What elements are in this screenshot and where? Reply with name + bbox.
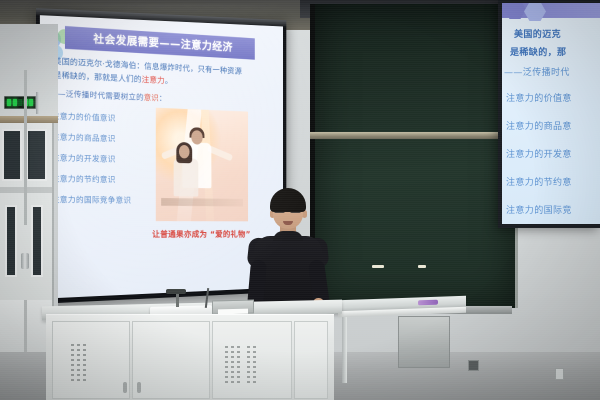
led-segment <box>18 99 22 106</box>
led-segment <box>29 99 33 106</box>
slide-paragraph-line2-prefix: 是稀缺的，那就是人们的 <box>53 70 141 84</box>
blackboard <box>310 4 518 308</box>
cabinet-door[interactable] <box>132 321 210 399</box>
photo-figure-body <box>174 158 199 196</box>
chalk-piece <box>418 265 426 268</box>
photo-watermark <box>161 198 243 206</box>
list-item: 注意力的开发意识 <box>52 148 167 171</box>
classroom-scene: 社会发展需要——注意力经济 美国的迈克尔·戈德海伯：信息爆炸时代，只有一种资源 … <box>0 0 600 400</box>
slide-paragraph-line2-suffix: 。 <box>165 76 173 86</box>
cabinet-door[interactable] <box>212 321 292 399</box>
chalk-ledge <box>310 132 507 139</box>
wall-socket[interactable] <box>555 368 564 380</box>
led-segment <box>13 99 17 106</box>
hair <box>270 188 306 212</box>
list-item: 注意力的节约意识 <box>52 168 167 191</box>
slide-subheading-prefix: ——泛传播时代需要树立的 <box>50 88 144 102</box>
led-display-sign <box>4 96 36 109</box>
door-glass-pane <box>31 205 43 277</box>
photo-figure-head <box>191 130 202 145</box>
wall-trim-board <box>0 116 58 123</box>
slide-subheading-suffix: ： <box>159 93 167 103</box>
secondary-slide-line: 注意力的开发意 <box>506 147 572 160</box>
secondary-slide-line: 注意力的节约意 <box>506 175 572 188</box>
led-segment <box>7 99 11 106</box>
sweater-collar <box>273 231 303 241</box>
cabinet-door[interactable] <box>294 321 328 399</box>
secondary-projection-screen: 美国的迈克 是稀缺的，那 ——泛传播时代 注意力的价值意 注意力的商品意 注意力… <box>498 0 600 228</box>
door-glass-pane <box>2 129 22 181</box>
purple-object-on-desk[interactable] <box>418 300 438 306</box>
secondary-slide-line: 是稀缺的，那 <box>510 45 566 58</box>
document-camera-arm <box>176 293 179 307</box>
podium-cabinet <box>46 314 334 400</box>
slide-paragraph-highlight: 注意力 <box>142 74 165 85</box>
secondary-slide-line: 注意力的国际竞 <box>506 203 572 216</box>
secondary-slide-line: 注意力的商品意 <box>506 119 572 132</box>
hexagon-icon <box>504 3 526 19</box>
photo-figure-head <box>179 145 190 159</box>
cabinet-handle[interactable] <box>123 382 127 393</box>
secondary-slide-line: 注意力的价值意 <box>506 91 572 104</box>
slide-bullet-list: 注意力的价值意识 注意力的商品意识 注意力的开发意识 注意力的节约意识 注意力的… <box>52 106 167 211</box>
side-desk-leg <box>342 313 347 383</box>
chalk-piece <box>372 265 384 268</box>
hexagon-icon <box>524 3 546 21</box>
door-glass-pane <box>5 205 17 277</box>
presenter <box>240 188 336 318</box>
slide-subheading-highlight: 意识 <box>144 92 159 102</box>
door-handle[interactable] <box>21 253 29 269</box>
door-center-seam <box>24 70 27 225</box>
cabinet-handle[interactable] <box>137 382 141 393</box>
wall-socket[interactable] <box>468 360 479 371</box>
slide-paragraph: 美国的迈克尔·戈德海伯：信息爆炸时代，只有一种资源 是稀缺的，那就是人们的注意力… <box>53 54 266 92</box>
secondary-slide-line: 美国的迈克 <box>514 27 561 40</box>
secondary-slide-line: ——泛传播时代 <box>504 65 570 78</box>
list-item: 注意力的国际竞争意识 <box>52 189 167 211</box>
slide-photo <box>156 108 248 222</box>
sign-mount <box>36 92 39 114</box>
secondary-slide: 美国的迈克 是稀缺的，那 ——泛传播时代 注意力的价值意 注意力的商品意 注意力… <box>502 3 600 224</box>
cabinet-door[interactable] <box>52 321 130 399</box>
slide-subheading: ——泛传播时代需要树立的意识： <box>50 87 232 107</box>
side-desk-panel <box>398 316 450 368</box>
document-camera-head <box>166 289 186 294</box>
door-glass-pane <box>26 129 47 181</box>
